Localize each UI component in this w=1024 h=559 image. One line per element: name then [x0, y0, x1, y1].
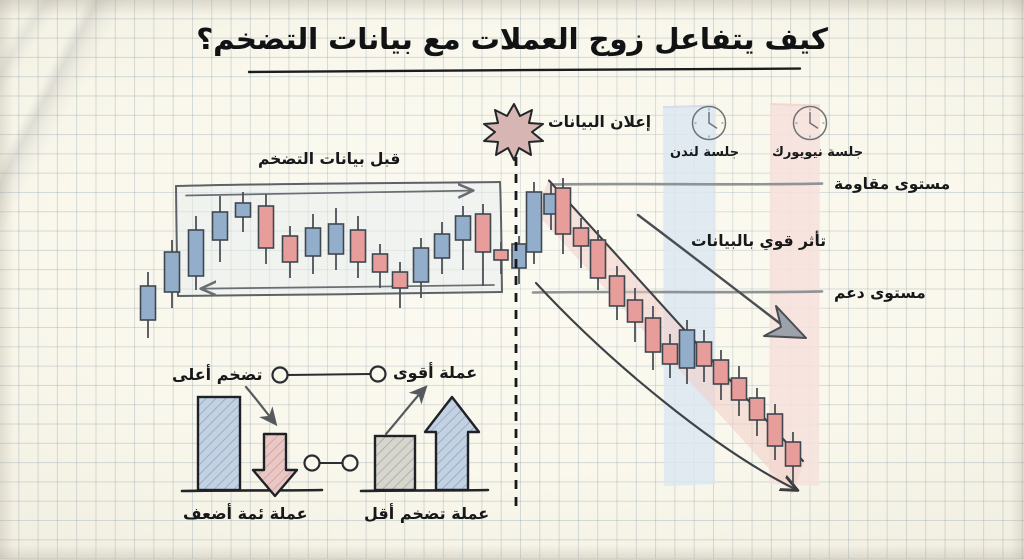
label-london-session: جلسة لندن: [670, 145, 739, 160]
candle-bull: [527, 182, 542, 264]
candle-bull: [141, 272, 156, 338]
lower-inflation-bar: [375, 436, 415, 490]
middle-connector: [305, 456, 358, 471]
data-release-starburst-icon: [484, 104, 543, 160]
page-title: كيف يتفاعل زوج العملات مع بيانات التضخم؟: [0, 22, 1024, 56]
label-newyork-session: جلسة نيويورك: [772, 145, 863, 160]
label-stronger-currency: عملة أقوى: [393, 363, 477, 382]
candle-bull: [512, 236, 526, 284]
higher-inflation-bar: [198, 397, 240, 490]
resistance-level-line: [552, 184, 822, 185]
session-band-london: [663, 106, 716, 487]
label-support-level: مستوى دعم: [834, 284, 926, 302]
stronger-currency-up-arrow: [425, 397, 479, 490]
label-lower-inflation-currency: عملة تضخم أقل: [364, 504, 489, 523]
title-underline: [249, 69, 800, 72]
weaker-currency-down-arrow: [253, 434, 297, 496]
label-strong-impact: تأثر قوي بالبيانات: [691, 232, 826, 250]
lowinflation-to-strength-arrow: [386, 389, 424, 434]
label-higher-inflation: تضخم أعلى: [172, 365, 263, 384]
infographic-canvas: كيف يتفاعل زوج العملات مع بيانات التضخم؟…: [0, 0, 1024, 559]
top-connector: [273, 367, 386, 383]
chart-graphics-layer: [0, 0, 1024, 559]
label-weaker-currency: عملة ئمة أضعف: [183, 504, 308, 523]
label-resistance-level: مستوى مقاومة: [834, 175, 950, 193]
label-data-release: إعلان البيانات: [548, 113, 651, 131]
support-level-line: [533, 291, 822, 292]
label-before-inflation-data: قبل بيانات التضخم: [258, 150, 400, 168]
inflation-to-weakness-arrow: [246, 387, 274, 422]
